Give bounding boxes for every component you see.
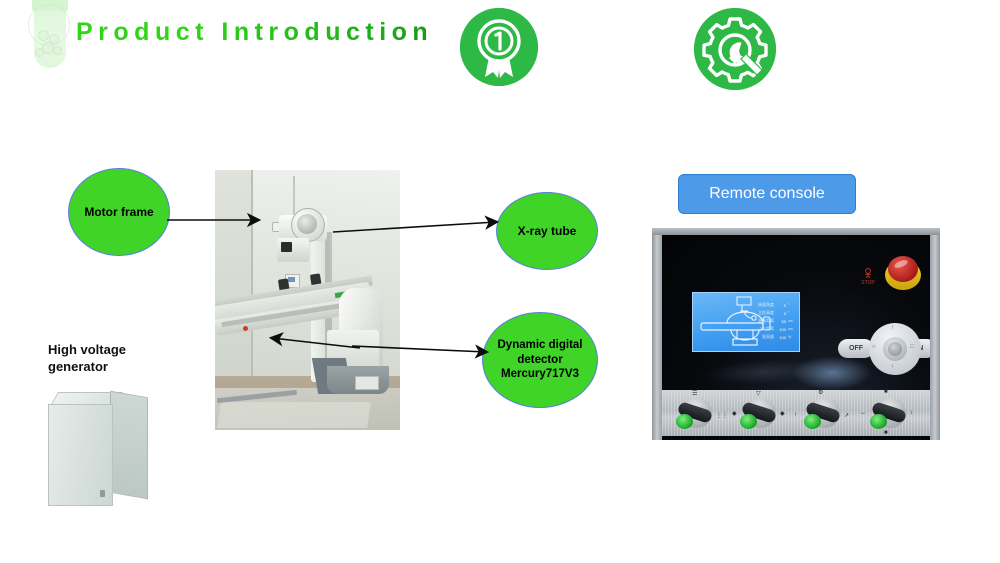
lcd-row-value: 0 xyxy=(776,303,786,308)
callout-dynamic-digital-detector[interactable]: Dynamic digital detector Mercury717V3 xyxy=(482,312,598,408)
lcd-row-value: 0 xyxy=(776,311,786,316)
lcd-row: 准直器 100 % xyxy=(745,333,795,341)
directional-pad-control[interactable]: OFF ON ↑ ↓ ○ □ xyxy=(844,323,930,375)
emergency-stop-text: STOP xyxy=(861,280,875,286)
callout-detector-label: Dynamic digital detector Mercury717V3 xyxy=(490,338,591,381)
remote-console-photo: 床面角度 0 ° 立柱高度 0 ° 源像距离 50 cm SID距离 100 xyxy=(652,228,940,440)
power-off-label: OFF xyxy=(849,345,863,352)
table-tilt-lever[interactable]: ☰ ⋮⋮ xyxy=(676,398,718,434)
lcd-row: SID距离 100 cm xyxy=(745,325,795,333)
lcd-row-label: SID距离 xyxy=(759,326,774,332)
detector-lever[interactable]: ■ ↔ ↕ ■ xyxy=(870,398,912,434)
callout-detector-line-2: detector xyxy=(517,354,562,366)
lcd-row-value: 100 xyxy=(776,327,786,332)
award-ribbon-number-one-icon xyxy=(460,8,538,86)
generator-label-line-1: High voltage xyxy=(48,342,126,357)
lcd-row-unit: cm xyxy=(788,319,795,323)
lcd-row: 立柱高度 0 ° xyxy=(745,309,795,317)
lcd-row-label: 床面角度 xyxy=(758,302,774,308)
lcd-parameter-list: 床面角度 0 ° 立柱高度 0 ° 源像距离 50 cm SID距离 100 xyxy=(745,301,795,341)
lcd-row-unit: ° xyxy=(788,303,795,307)
dpad-center-inner[interactable] xyxy=(888,342,902,356)
high-voltage-generator-label: High voltage generator xyxy=(48,342,126,376)
callout-motor-frame[interactable]: Motor frame xyxy=(68,168,170,256)
generator-label-line-2: generator xyxy=(48,359,108,374)
lcd-row-unit: cm xyxy=(788,327,795,331)
test-tube-watermark-icon xyxy=(28,0,72,74)
emergency-stop-button[interactable] xyxy=(885,256,921,290)
callout-xray-tube-label: X-ray tube xyxy=(510,224,585,239)
callout-xray-tube[interactable]: X-ray tube xyxy=(496,192,598,270)
dpad-left-icon[interactable]: ○ xyxy=(872,344,876,350)
emergency-stop-symbol-icon: STOP xyxy=(860,268,876,284)
gear-wrench-settings-icon xyxy=(694,8,776,90)
remote-console-label-text: Remote console xyxy=(709,185,825,203)
slide-canvas: Product Introduction xyxy=(0,0,1000,563)
callout-detector-line-3: Mercury717V3 xyxy=(501,368,579,380)
dpad-up-icon[interactable]: ↑ xyxy=(891,325,894,331)
dpad-right-icon[interactable]: □ xyxy=(910,344,914,350)
lcd-row-label: 准直器 xyxy=(762,334,774,340)
lcd-row-value: 100 xyxy=(776,335,786,340)
lcd-row-unit: ° xyxy=(788,311,795,315)
xray-system-installation-photo xyxy=(215,170,400,430)
lcd-row-unit: % xyxy=(788,335,795,339)
remote-console-label: Remote console xyxy=(678,174,856,214)
lcd-row: 源像距离 50 cm xyxy=(745,317,795,325)
tube-travel-lever[interactable]: ⚙ ↑ ↗ xyxy=(804,398,846,434)
dpad-down-icon[interactable]: ↓ xyxy=(891,363,894,369)
collimator-lever[interactable]: ▽ ◆ ◆ xyxy=(740,398,782,434)
high-voltage-generator-image xyxy=(48,390,148,505)
callout-detector-line-1: Dynamic digital xyxy=(498,339,583,351)
lcd-row-label: 立柱高度 xyxy=(758,310,774,316)
console-lcd-screen: 床面角度 0 ° 立柱高度 0 ° 源像距离 50 cm SID距离 100 xyxy=(692,292,800,352)
page-title: Product Introduction xyxy=(76,18,433,47)
lcd-row-value: 50 xyxy=(776,319,786,324)
lcd-row-label: 源像距离 xyxy=(758,318,774,324)
callout-motor-frame-label: Motor frame xyxy=(76,205,161,220)
lcd-row: 床面角度 0 ° xyxy=(745,301,795,309)
